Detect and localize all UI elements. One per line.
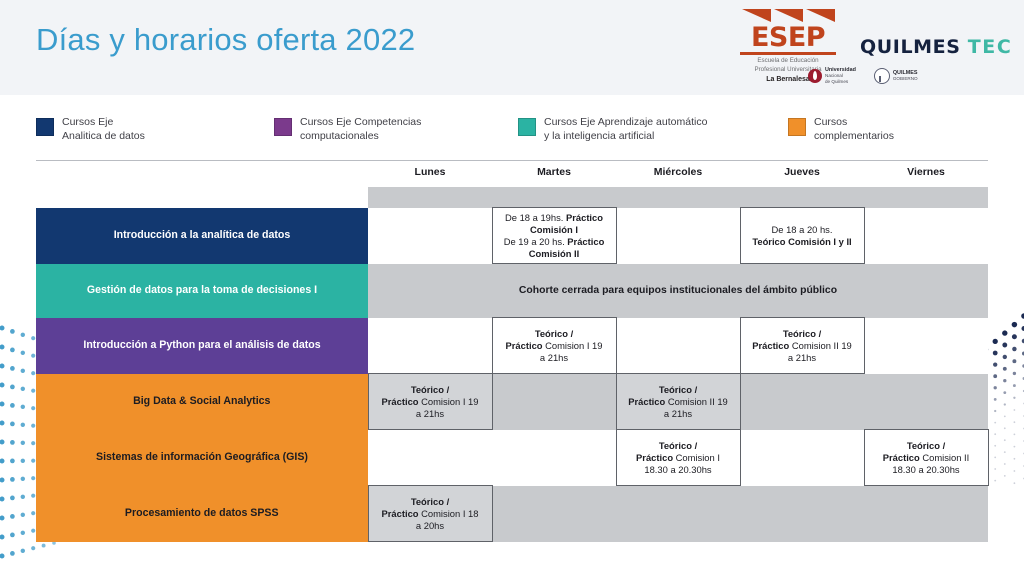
cell-line: Comision I 18 (419, 508, 479, 519)
cell-gis-jueves (740, 430, 864, 486)
quilmes-gobierno-logo: QUILMESGOBIERNO (874, 68, 918, 84)
cell-line: Comision I 19 (543, 340, 603, 351)
cell-spss-lunes: Teórico / Práctico Comision I 18 a 20hs (368, 486, 492, 542)
cell-line: De 19 a 20 hs. (504, 236, 568, 247)
esep-wordmark: ESEP (740, 24, 836, 55)
quilmes-tec-logo: QUILMES TEC (860, 36, 1012, 58)
legend-swatch-aprendizaje (518, 118, 536, 136)
cell-line-bold: Práctico (382, 396, 419, 407)
quilmes-gobierno-logo-text: QUILMESGOBIERNO (893, 71, 918, 82)
day-header-martes: Martes (492, 161, 616, 187)
legend-item-analitica: Cursos Eje Analitica de datos (36, 116, 145, 143)
cell-line-bold: Teórico / (659, 384, 697, 395)
cell-gestion-merged: Cohorte cerrada para equipos institucion… (368, 264, 988, 318)
legend-swatch-competencias (274, 118, 292, 136)
cell-line-bold: Práctico (636, 452, 673, 463)
cell-bigdata-lunes: Teórico / Práctico Comision I 19 a 21hs (368, 374, 492, 430)
cell-analitica-martes: De 18 a 19hs. Práctico Comisión I De 19 … (492, 208, 616, 264)
cell-line-bold: Práctico (752, 340, 789, 351)
cell-line-bold: Práctico (883, 452, 920, 463)
row-label-spss: Procesamiento de datos SPSS (36, 486, 368, 542)
table-row: Procesamiento de datos SPSS Teórico / Pr… (36, 486, 988, 542)
cell-line-bold: Comisión II (529, 248, 580, 259)
logo-zone: ESEP Escuela de Educación Profesional Un… (712, 6, 1012, 92)
cell-gis-viernes: Teórico / Práctico Comision II 18.30 a 2… (864, 430, 988, 486)
table-row: Sistemas de información Geográfica (GIS)… (36, 430, 988, 486)
cell-analitica-viernes (864, 208, 988, 264)
legend: Cursos Eje Analitica de datos Cursos Eje… (36, 116, 988, 160)
legend-label-competencias: Cursos Eje Competencias computacionales (300, 116, 421, 143)
cell-line: 18.30 a 20.30hs (644, 464, 711, 475)
cell-line: Comision I 19 (419, 396, 479, 407)
cell-line-bold: Teórico Comisión I y II (752, 236, 851, 247)
cell-spss-miercoles (616, 486, 740, 542)
cell-python-jueves: Teórico / Práctico Comision II 19 a 21hs (740, 318, 864, 374)
legend-label-aprendizaje: Cursos Eje Aprendizaje automático y la i… (544, 116, 707, 143)
table-row: Introducción a Python para el análisis d… (36, 318, 988, 374)
schedule-table-wrap: Lunes Martes Miércoles Jueves Viernes In… (36, 161, 988, 542)
day-header-miercoles: Miércoles (616, 161, 740, 187)
cell-line-bold: Teórico / (783, 328, 821, 339)
cell-line-bold: Práctico (382, 508, 419, 519)
cell-bigdata-jueves (740, 374, 864, 430)
cell-line: Comision II 19 (665, 396, 728, 407)
cell-python-miercoles (616, 318, 740, 374)
day-header-lunes: Lunes (368, 161, 492, 187)
band-fill (368, 187, 988, 208)
legend-item-aprendizaje: Cursos Eje Aprendizaje automático y la i… (518, 116, 707, 143)
day-header-row: Lunes Martes Miércoles Jueves Viernes (36, 161, 988, 187)
cell-gis-miercoles: Teórico / Práctico Comision I 18.30 a 20… (616, 430, 740, 486)
quilmes-word: QUILMES (860, 36, 961, 58)
unq-mark-icon (808, 69, 822, 83)
cell-line-bold: Teórico / (907, 440, 945, 451)
esep-subtitle-line1: Escuela de Educación (740, 57, 836, 64)
cell-line-bold: Teórico / (535, 328, 573, 339)
cell-line: Comision II 19 (789, 340, 852, 351)
cell-line-bold: Comisión I (530, 224, 578, 235)
cell-spss-jueves (740, 486, 864, 542)
cell-bigdata-viernes (864, 374, 988, 430)
cell-python-viernes (864, 318, 988, 374)
cell-line-bold: Teórico / (411, 384, 449, 395)
cell-line: De 18 a 20 hs. (772, 224, 833, 235)
legend-label-analitica: Cursos Eje Analitica de datos (62, 116, 145, 143)
legend-label-complementarios: Cursos complementarios (814, 116, 894, 143)
cell-python-martes: Teórico / Práctico Comision I 19 a 21hs (492, 318, 616, 374)
cell-line-bold: Teórico / (659, 440, 697, 451)
cell-line: a 21hs (788, 352, 816, 363)
cell-line: a 21hs (540, 352, 568, 363)
row-label-bigdata: Big Data & Social Analytics (36, 374, 368, 430)
row-label-python: Introducción a Python para el análisis d… (36, 318, 368, 374)
cell-analitica-lunes (368, 208, 492, 264)
legend-item-competencias: Cursos Eje Competencias computacionales (274, 116, 421, 143)
cell-line: a 21hs (416, 408, 444, 419)
esep-chevrons-icon (740, 8, 836, 23)
cell-line: Comision I (673, 452, 720, 463)
cell-bigdata-miercoles: Teórico / Práctico Comision II 19 a 21hs (616, 374, 740, 430)
cell-line: a 21hs (664, 408, 692, 419)
cell-analitica-miercoles (616, 208, 740, 264)
legend-item-complementarios: Cursos complementarios (788, 116, 894, 143)
row-label-analitica: Introducción a la analítica de datos (36, 208, 368, 264)
row-label-gestion: Gestión de datos para la toma de decisio… (36, 264, 368, 318)
corner-cell (36, 161, 368, 187)
legend-swatch-analitica (36, 118, 54, 136)
cell-line: a 20hs (416, 520, 444, 531)
cell-line: Comision II (920, 452, 970, 463)
day-header-jueves: Jueves (740, 161, 864, 187)
cell-line-bold: Práctico (567, 236, 604, 247)
cell-line-bold: Teórico / (411, 496, 449, 507)
page-title: Días y horarios oferta 2022 (36, 22, 415, 58)
quilmes-gobierno-mark-icon (874, 68, 890, 84)
cell-line-bold: Práctico (566, 212, 603, 223)
cell-line-bold: Práctico (628, 396, 665, 407)
row-label-gis: Sistemas de información Geográfica (GIS) (36, 430, 368, 486)
legend-swatch-complementarios (788, 118, 806, 136)
cell-bigdata-martes (492, 374, 616, 430)
unq-logo-text: UniversidadNacionalde Quilmes (825, 68, 856, 84)
tec-word: TEC (968, 36, 1013, 58)
table-row: Big Data & Social Analytics Teórico / Pr… (36, 374, 988, 430)
band-gap (36, 187, 368, 208)
cell-spss-viernes (864, 486, 988, 542)
cell-analitica-jueves: De 18 a 20 hs. Teórico Comisión I y II (740, 208, 864, 264)
cell-python-lunes (368, 318, 492, 374)
unq-logo: UniversidadNacionalde Quilmes (808, 68, 856, 84)
cell-line: 18.30 a 20.30hs (892, 464, 959, 475)
day-header-viernes: Viernes (864, 161, 988, 187)
table-row: Introducción a la analítica de datos De … (36, 208, 988, 264)
cell-line: De 18 a 19hs. (505, 212, 566, 223)
schedule-table: Lunes Martes Miércoles Jueves Viernes In… (36, 161, 989, 542)
cell-gis-lunes (368, 430, 492, 486)
partner-logos: UniversidadNacionalde Quilmes QUILMESGOB… (808, 68, 918, 84)
cell-line-bold: Práctico (506, 340, 543, 351)
top-grey-band (36, 187, 988, 208)
cell-spss-martes (492, 486, 616, 542)
cell-gis-martes (492, 430, 616, 486)
table-row: Gestión de datos para la toma de decisio… (36, 264, 988, 318)
slide-root: Días y horarios oferta 2022 ESEP Escuela… (0, 0, 1024, 576)
